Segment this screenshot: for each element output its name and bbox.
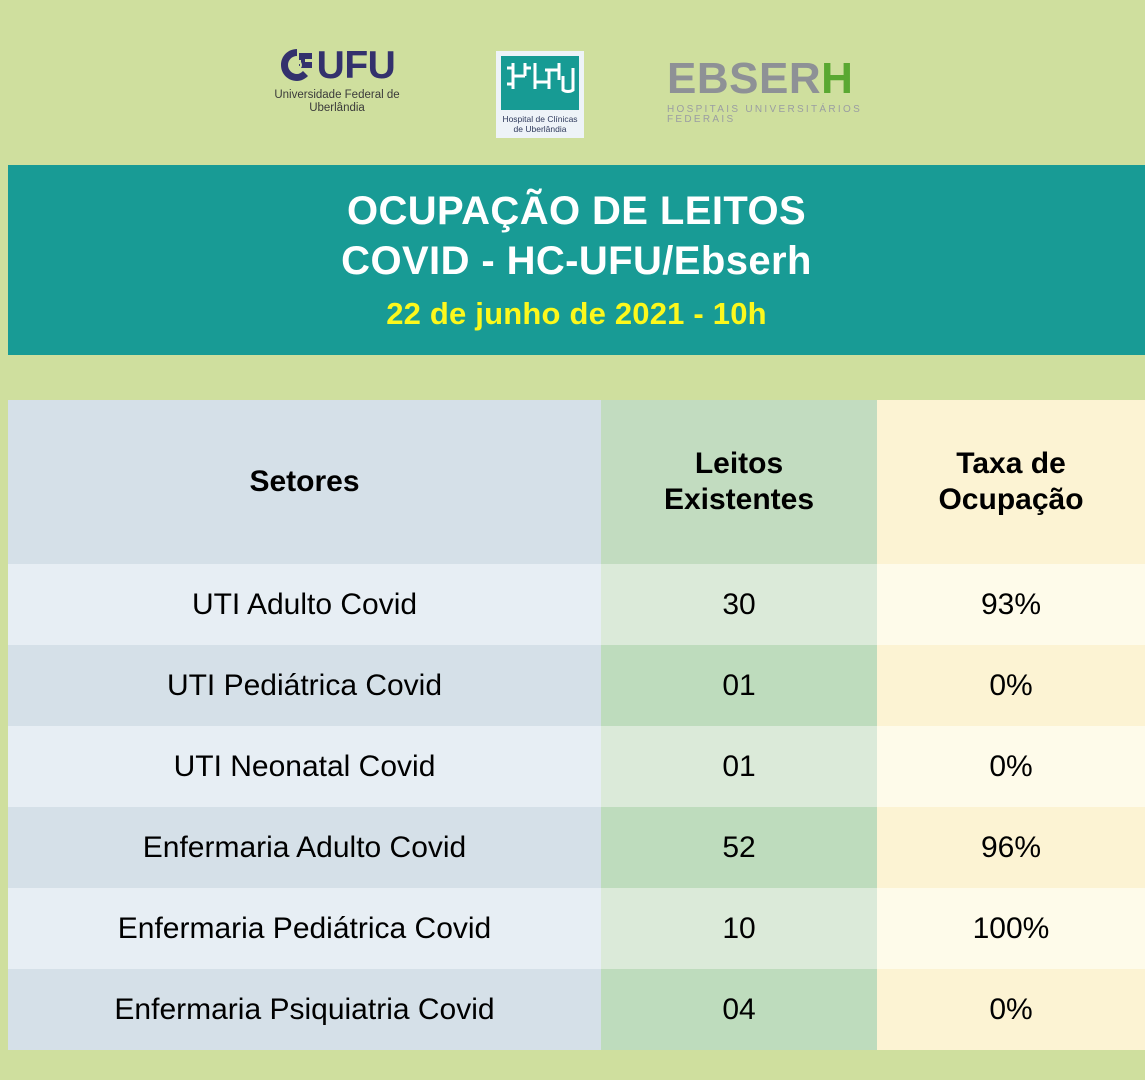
ebserh-wordmark: EBSERH bbox=[667, 57, 902, 101]
table-head: Setores Leitos Existentes Taxa de Ocupaç… bbox=[8, 400, 1145, 564]
cell-taxa: 100% bbox=[877, 888, 1145, 969]
cell-leitos: 01 bbox=[601, 645, 877, 726]
logo-strip: UFU Universidade Federal de Uberlândia bbox=[0, 0, 1145, 165]
cell-leitos: 01 bbox=[601, 726, 877, 807]
hcu-monogram-icon bbox=[501, 56, 579, 110]
cell-leitos: 10 bbox=[601, 888, 877, 969]
poster-root: UFU Universidade Federal de Uberlândia bbox=[0, 0, 1145, 1080]
table-body: UTI Adulto Covid 30 93% UTI Pediátrica C… bbox=[8, 564, 1145, 1050]
title-banner: OCUPAÇÃO DE LEITOS COVID - HC-UFU/Ebserh… bbox=[8, 165, 1145, 355]
ebserh-word-gray: EBSER bbox=[667, 54, 821, 103]
ebserh-tagline: HOSPITAIS UNIVERSITÁRIOS FEDERAIS bbox=[667, 105, 902, 125]
ufu-logo: UFU Universidade Federal de Uberlândia bbox=[257, 48, 417, 115]
hc-subtitle-line2: de Uberlândia bbox=[500, 124, 580, 134]
cell-setor: Enfermaria Pediátrica Covid bbox=[8, 888, 601, 969]
table-header-row: Setores Leitos Existentes Taxa de Ocupaç… bbox=[8, 400, 1145, 564]
ufu-subtitle-line2: Uberlândia bbox=[257, 102, 417, 115]
hc-subtitle-line1: Hospital de Clínicas bbox=[500, 114, 580, 124]
cell-setor: UTI Pediátrica Covid bbox=[8, 645, 601, 726]
header-leitos-line2: Existentes bbox=[601, 482, 877, 518]
occupancy-table-wrap: Setores Leitos Existentes Taxa de Ocupaç… bbox=[8, 400, 1145, 1080]
cell-setor: Enfermaria Adulto Covid bbox=[8, 807, 601, 888]
cell-taxa: 96% bbox=[877, 807, 1145, 888]
cell-leitos: 52 bbox=[601, 807, 877, 888]
cell-taxa: 0% bbox=[877, 645, 1145, 726]
cell-taxa: 93% bbox=[877, 564, 1145, 645]
banner-title-line1: OCUPAÇÃO DE LEITOS bbox=[347, 186, 806, 236]
header-setores: Setores bbox=[8, 400, 601, 564]
header-leitos-line1: Leitos bbox=[601, 446, 877, 482]
table-row: Enfermaria Pediátrica Covid 10 100% bbox=[8, 888, 1145, 969]
hc-subtitle: Hospital de Clínicas de Uberlândia bbox=[500, 114, 580, 134]
table-row: Enfermaria Psiquiatria Covid 04 0% bbox=[8, 969, 1145, 1050]
header-taxa-ocupacao: Taxa de Ocupação bbox=[877, 400, 1145, 564]
header-taxa-line1: Taxa de bbox=[877, 446, 1145, 482]
ufu-subtitle-line1: Universidade Federal de bbox=[257, 89, 417, 102]
banner-date: 22 de junho de 2021 - 10h bbox=[386, 294, 767, 334]
cell-setor: UTI Adulto Covid bbox=[8, 564, 601, 645]
banner-title-line2: COVID - HC-UFU/Ebserh bbox=[341, 236, 812, 286]
cell-setor: Enfermaria Psiquiatria Covid bbox=[8, 969, 601, 1050]
ufu-wordmark: UFU bbox=[257, 48, 417, 84]
table-row: Enfermaria Adulto Covid 52 96% bbox=[8, 807, 1145, 888]
occupancy-table: Setores Leitos Existentes Taxa de Ocupaç… bbox=[8, 400, 1145, 1050]
cell-leitos: 04 bbox=[601, 969, 877, 1050]
ebserh-logo: EBSERH HOSPITAIS UNIVERSITÁRIOS FEDERAIS bbox=[667, 57, 902, 125]
cell-taxa: 0% bbox=[877, 726, 1145, 807]
table-row: UTI Adulto Covid 30 93% bbox=[8, 564, 1145, 645]
cell-taxa: 0% bbox=[877, 969, 1145, 1050]
ebserh-word-green: H bbox=[821, 54, 853, 103]
cell-leitos: 30 bbox=[601, 564, 877, 645]
header-leitos-existentes: Leitos Existentes bbox=[601, 400, 877, 564]
table-row: UTI Pediátrica Covid 01 0% bbox=[8, 645, 1145, 726]
header-taxa-line2: Ocupação bbox=[877, 482, 1145, 518]
table-row: UTI Neonatal Covid 01 0% bbox=[8, 726, 1145, 807]
ufu-subtitle: Universidade Federal de Uberlândia bbox=[257, 89, 417, 115]
ufu-spiral-icon bbox=[279, 48, 315, 84]
ufu-letters: UFU bbox=[317, 48, 396, 84]
hc-logo: Hospital de Clínicas de Uberlândia bbox=[496, 51, 584, 138]
cell-setor: UTI Neonatal Covid bbox=[8, 726, 601, 807]
